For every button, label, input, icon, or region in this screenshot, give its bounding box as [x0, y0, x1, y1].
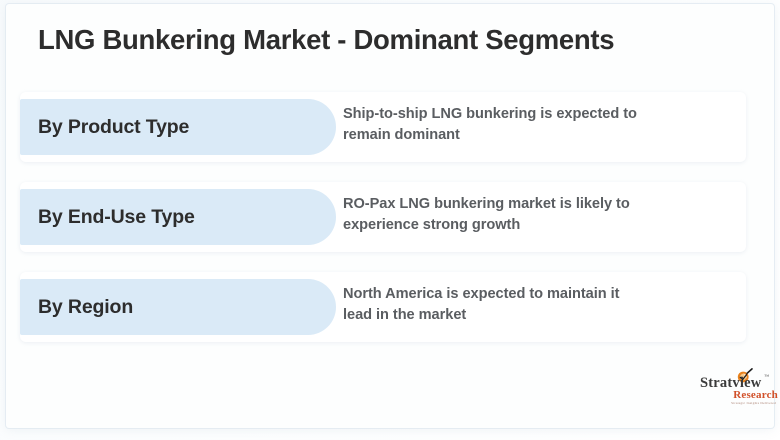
segment-pill-region: By Region — [20, 279, 336, 335]
segment-label: By End-Use Type — [38, 189, 195, 245]
segment-description-line1: RO-Pax LNG bunkering market is likely to — [343, 196, 630, 212]
segment-row[interactable]: By Region North America is expected to m… — [20, 272, 746, 342]
segment-pill-end-use-type: By End-Use Type — [20, 189, 336, 245]
segment-label: By Product Type — [38, 99, 189, 155]
segments-list: By Product Type Ship-to-ship LNG bunkeri… — [0, 0, 780, 440]
segment-label: By Region — [38, 279, 133, 335]
segment-description: Ship-to-ship LNG bunkering is expected t… — [343, 104, 738, 145]
slide-canvas: LNG Bunkering Market - Dominant Segments… — [0, 0, 780, 440]
stratview-research-logo: Stratview ™ Research Strategic Insights … — [700, 368, 774, 414]
segment-description-line1: North America is expected to maintain it — [343, 286, 619, 302]
segment-description-line2: experience strong growth — [343, 215, 738, 236]
segment-description-line1: Ship-to-ship LNG bunkering is expected t… — [343, 106, 637, 122]
segment-description-line2: remain dominant — [343, 125, 738, 146]
segment-description-line2: lead in the market — [343, 305, 738, 326]
segment-row[interactable]: By End-Use Type RO-Pax LNG bunkering mar… — [20, 182, 746, 252]
segment-description: North America is expected to maintain it… — [343, 284, 738, 325]
logo-trademark-icon: ™ — [764, 375, 769, 380]
logo-tagline: Strategic Insights Delivered — [710, 402, 776, 405]
segment-row[interactable]: By Product Type Ship-to-ship LNG bunkeri… — [20, 92, 746, 162]
logo-subtitle: Research — [722, 390, 778, 401]
segment-description: RO-Pax LNG bunkering market is likely to… — [343, 194, 738, 235]
segment-pill-product-type: By Product Type — [20, 99, 336, 155]
